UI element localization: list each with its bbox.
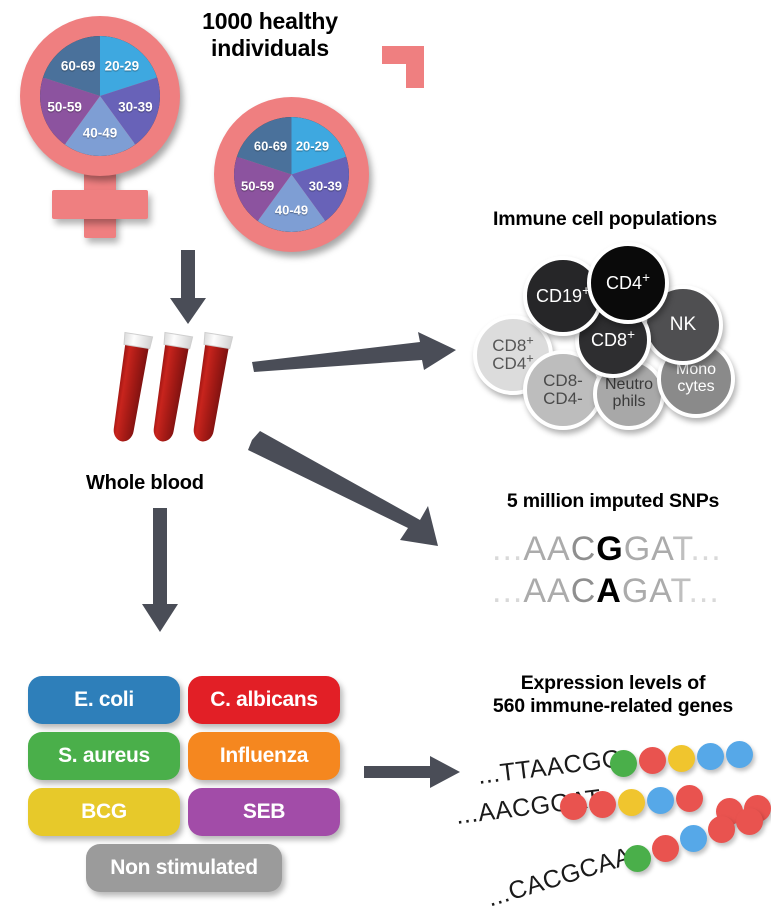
stimulus-pill-influenza[interactable]: Influenza: [188, 732, 340, 780]
snp-base-t: T: [672, 530, 690, 568]
bead-red: [639, 747, 666, 774]
dna-sequence-text: ...CACGCAA: [484, 842, 635, 913]
bead-blue: [680, 825, 707, 852]
expression-dna-strands: ...TTAACGG ...AACGGAT ...CACGCAA: [460, 740, 771, 910]
cell-label-line1: CD19+: [536, 287, 590, 306]
snp-ellipsis-left: ...: [492, 530, 523, 568]
cell-label-line2: phils: [605, 394, 653, 411]
imputed-snps-title: 5 million imputed SNPs: [455, 490, 771, 513]
stimulus-label: BCG: [81, 800, 127, 824]
blood-tubes-icon: [108, 330, 238, 455]
bead-green: [624, 845, 651, 872]
snp-base-t: T: [670, 572, 688, 610]
stimulus-pill-non-stimulated[interactable]: Non stimulated: [86, 844, 282, 892]
snp-variant-base-a: A: [596, 572, 622, 610]
snp-base-c: C: [571, 572, 597, 610]
stimulus-label: SEB: [243, 800, 285, 824]
snp-bases-left: AA: [523, 530, 570, 568]
stimulus-label: E. coli: [74, 688, 134, 712]
stimulus-label: Influenza: [220, 744, 308, 768]
arrow-blood-to-snp: [252, 440, 458, 550]
cell-circle-cd4pos: CD4+: [587, 242, 669, 324]
snp-bases-left: AA: [523, 572, 570, 610]
snp-bases-right: GA: [624, 530, 673, 568]
stimulus-label: S. aureus: [58, 744, 150, 768]
stimulus-pill-c-albicans[interactable]: C. albicans: [188, 676, 340, 724]
cell-label-line2: CD4-: [543, 390, 583, 408]
cell-label-line1: CD8+: [591, 331, 635, 350]
immune-cell-populations-title: Immune cell populations: [440, 208, 770, 231]
snp-ellipsis-right: ...: [690, 530, 721, 568]
snp-variant-base-g: G: [596, 530, 623, 568]
bead-yellow: [668, 745, 695, 772]
cell-label-line1: NK: [670, 315, 696, 335]
figure-canvas: 1000 healthy individuals Immune cell pop…: [0, 0, 771, 922]
bead-red: [736, 808, 763, 835]
bead-red: [676, 785, 703, 812]
arrow-blood-to-stimuli: [140, 508, 180, 634]
immune-cell-cluster: CD8+ CD4+ CD8- CD4- Neutro phils Mono cy…: [465, 240, 765, 430]
snp-bases-right: GA: [622, 572, 671, 610]
bead-red: [589, 791, 616, 818]
dna-sequence-text: ...TTAACGG: [476, 744, 623, 790]
bead-red: [708, 816, 735, 843]
snp-base-c: C: [571, 530, 597, 568]
snp-sequence-row-1: ...AACGGAT...: [492, 530, 722, 569]
bead-red: [560, 793, 587, 820]
stimulus-pill-bcg[interactable]: BCG: [28, 788, 180, 836]
cell-label-line1: Neutro: [605, 377, 653, 394]
bead-red: [652, 835, 679, 862]
bead-yellow: [618, 789, 645, 816]
stimulus-pill-s-aureus[interactable]: S. aureus: [28, 732, 180, 780]
male-age-pie-chart: 20-2930-3940-4950-5960-69: [234, 117, 349, 232]
cell-label-line1: CD4+: [606, 274, 650, 293]
snp-sequence-row-2: ...AACAGAT...: [492, 572, 720, 611]
snp-ellipsis-right: ...: [688, 572, 719, 610]
cell-label-line2: cytes: [676, 379, 716, 396]
snp-ellipsis-left: ...: [492, 572, 523, 610]
stimulus-label: Non stimulated: [110, 856, 257, 880]
bead-blue: [697, 743, 724, 770]
female-age-pie-chart: 20-2930-3940-4950-5960-69: [40, 36, 160, 156]
bead-green: [610, 750, 637, 777]
stimulus-pill-e-coli[interactable]: E. coli: [28, 676, 180, 724]
arrow-stimuli-to-expression: [364, 756, 462, 788]
whole-blood-label: Whole blood: [86, 472, 204, 495]
stimulus-label: C. albicans: [210, 688, 318, 712]
cell-label-line1: CD8-: [543, 372, 583, 390]
bead-blue: [726, 741, 753, 768]
arrow-cohort-to-blood: [168, 250, 208, 326]
expression-levels-title: Expression levels of 560 immune-related …: [455, 672, 771, 717]
arrow-blood-to-immune: [252, 330, 458, 372]
female-cross-icon: [52, 190, 148, 219]
bead-blue: [647, 787, 674, 814]
stimulus-pill-seb[interactable]: SEB: [188, 788, 340, 836]
